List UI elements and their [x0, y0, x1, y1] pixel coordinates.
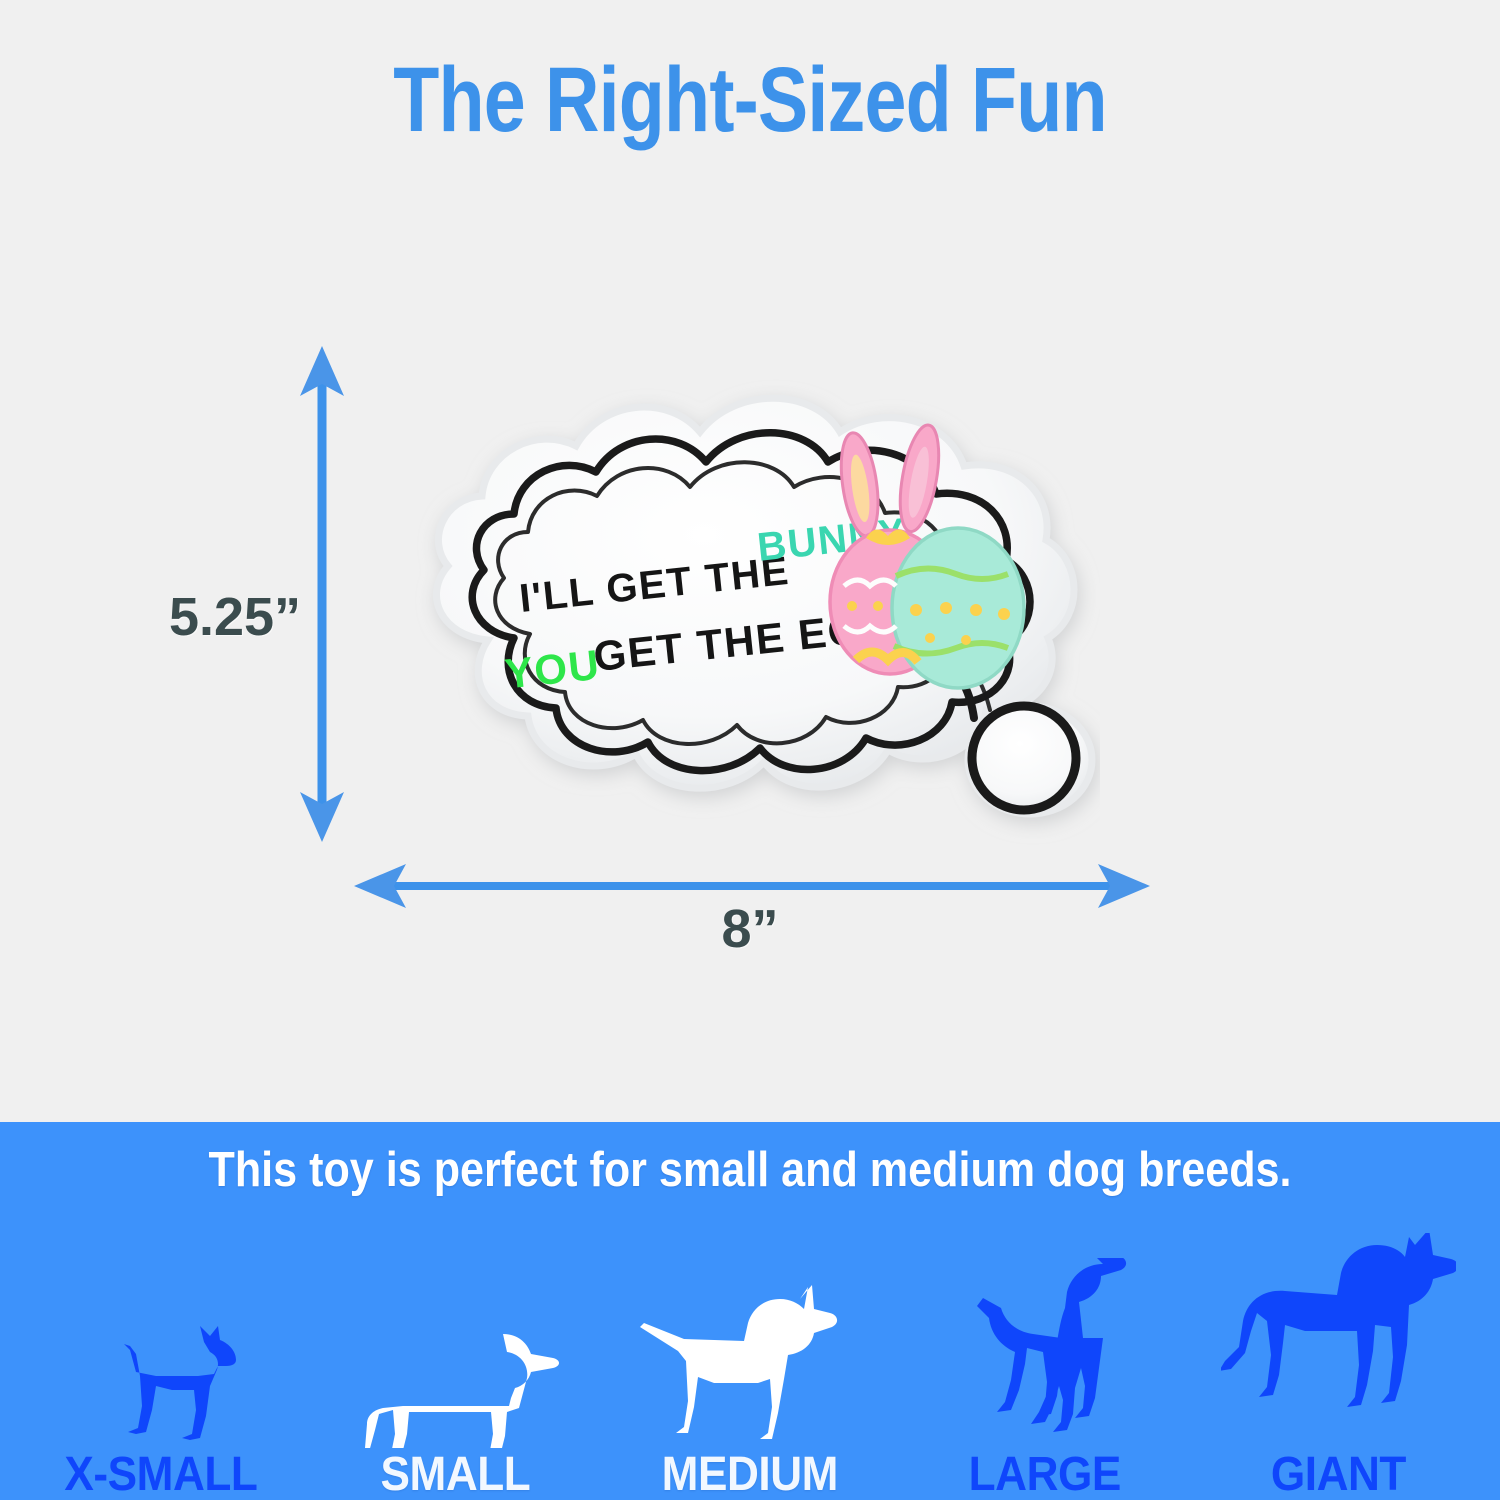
- size-label-x-small: X-SMALL: [65, 1450, 258, 1500]
- size-option-giant[interactable]: GIANT: [1192, 1218, 1486, 1500]
- size-label-medium: MEDIUM: [662, 1450, 838, 1500]
- size-option-medium[interactable]: MEDIUM: [603, 1218, 897, 1500]
- chihuahua-silhouette-icon: [86, 1318, 236, 1448]
- size-option-large[interactable]: LARGE: [897, 1218, 1191, 1500]
- great-dane-silhouette-icon: [1221, 1233, 1456, 1448]
- size-option-small[interactable]: SMALL: [308, 1218, 602, 1500]
- great-dane-figure: [1192, 1233, 1486, 1448]
- width-dimension-label: 8”: [665, 898, 835, 960]
- bull-terrier-figure: [603, 1283, 897, 1448]
- banner-headline: This toy is perfect for small and medium…: [90, 1142, 1410, 1198]
- golden-retriever-silhouette-icon: [927, 1258, 1162, 1448]
- infographic-page: The Right-Sized Fun 5.25” 8”: [0, 0, 1500, 1500]
- golden-retriever-figure: [897, 1258, 1191, 1448]
- svg-text:YOU: YOU: [503, 641, 603, 698]
- bunny-egg-applique-icon: [830, 422, 1024, 688]
- dachshund-figure: [308, 1318, 602, 1448]
- height-dimension-label: 5.25”: [160, 586, 310, 648]
- dachshund-silhouette-icon: [351, 1318, 561, 1448]
- size-guide-banner: This toy is perfect for small and medium…: [0, 1122, 1500, 1500]
- chihuahua-figure: [14, 1318, 308, 1448]
- page-title: The Right-Sized Fun: [135, 48, 1365, 153]
- size-label-large: LARGE: [968, 1450, 1120, 1500]
- size-label-small: SMALL: [381, 1450, 531, 1500]
- size-option-x-small[interactable]: X-SMALL: [14, 1218, 308, 1500]
- product-image: I'LL GET THE BUNNY, YOU GET THE EGGS!: [370, 370, 1100, 850]
- bull-terrier-silhouette-icon: [640, 1283, 860, 1448]
- size-label-giant: GIANT: [1271, 1450, 1406, 1500]
- dog-size-scale: X-SMALL SMALL MEDIUM: [0, 1218, 1500, 1500]
